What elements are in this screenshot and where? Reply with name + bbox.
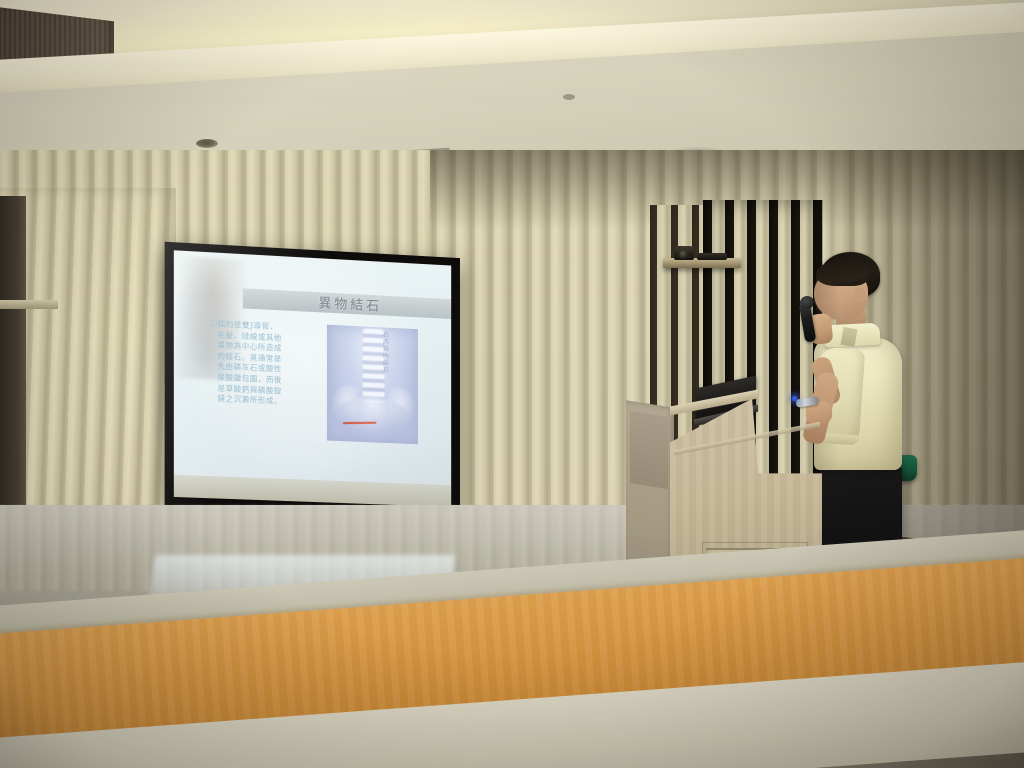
black-device [697,253,727,260]
presenter-hair-front [816,260,868,286]
downlight-icon [196,139,218,148]
abdominal-xray: 石肉與內結石 [327,325,418,445]
xray-red-marker-line [343,422,377,424]
lectern-grey-side-panel [630,411,668,489]
screen-surface: 異物結石 ❑指的是雙J導管、 毛髮、縫線或其他 異物為中心所造成 的結石。其通常… [174,250,451,507]
presenter-ear [854,288,865,302]
lecture-hall-photo: 異物結石 ❑指的是雙J導管、 毛髮、縫線或其他 異物為中心所造成 的結石。其通常… [0,0,1024,768]
camera-lens-icon [679,250,688,259]
projection-screen[interactable]: 異物結石 ❑指的是雙J導管、 毛髮、縫線或其他 異物為中心所造成 的結石。其通常… [165,242,460,517]
slide-body-line: 指的是雙J導管、 [218,319,278,331]
wall-left-ledge [0,300,58,309]
downlight-icon [563,94,575,100]
xray-overlay-text: 石肉與內結石 [380,331,388,373]
slide-body-text: ❑指的是雙J導管、 毛髮、縫線或其他 異物為中心所造成 的結石。其通常是 先由磷… [210,319,319,409]
